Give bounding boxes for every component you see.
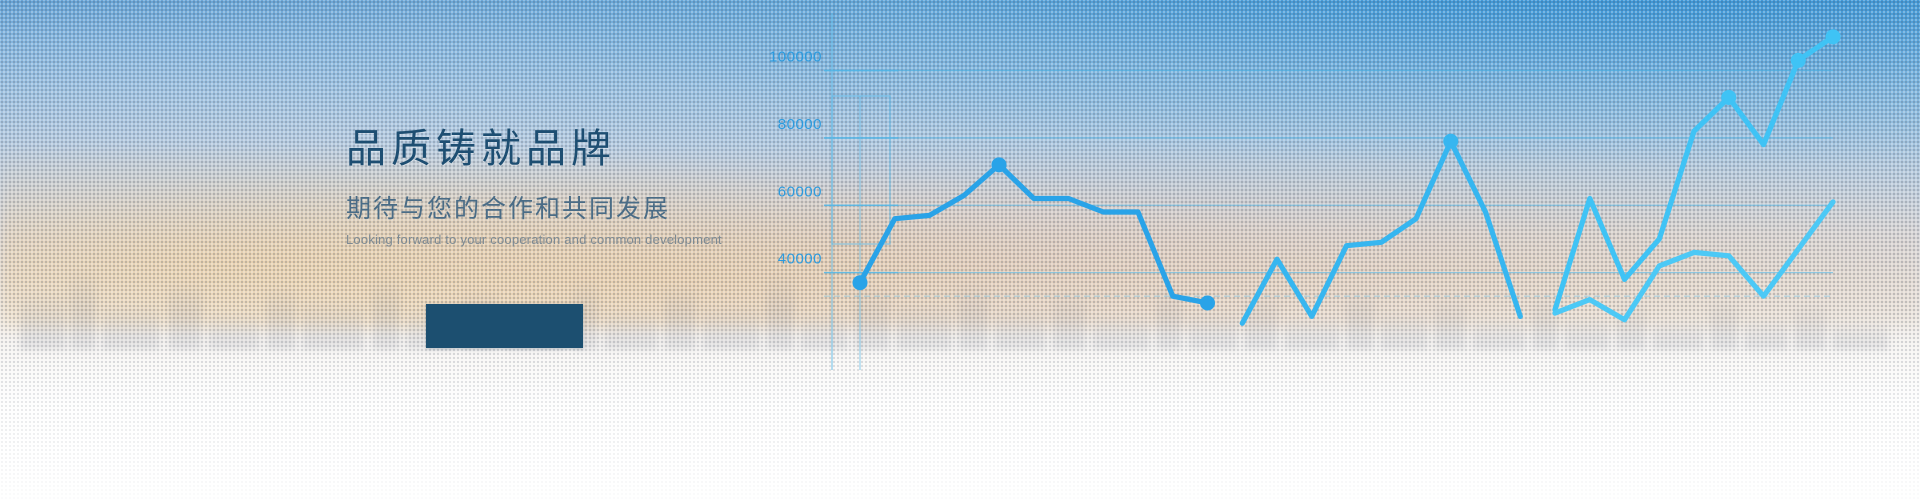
banner-english-tagline: Looking forward to your cooperation and … [346,232,776,248]
chart-y-tick-labels: 400006000080000100000 [769,49,822,268]
learn-more-button[interactable] [426,304,583,348]
chart-point-marker [1200,295,1215,310]
chart-y-axis [832,13,890,370]
chart-series-group [860,37,1833,323]
chart-line-series-a [860,165,1208,303]
banner-headline: 品质铸就品牌 [346,126,776,172]
chart-point-marker [853,275,868,290]
chart-point-marker [1443,134,1458,149]
chart-data-point-markers [853,29,1841,310]
banner-subheadline: 期待与您的合作和共同发展 [346,194,776,224]
chart-point-marker [1826,29,1841,44]
chart-y-tick-label: 100000 [769,49,822,66]
hero-banner: 品质铸就品牌 期待与您的合作和共同发展 Looking forward to y… [0,0,1920,500]
chart-y-tick-label: 40000 [778,251,822,268]
chart-point-marker [1721,90,1736,105]
chart-y-tick-label: 60000 [778,183,822,200]
chart-line-series-c [1555,37,1833,310]
chart-y-tick-label: 80000 [778,116,822,133]
banner-copy-block: 品质铸就品牌 期待与您的合作和共同发展 Looking forward to y… [346,126,776,248]
line-chart: 400006000080000100000 [760,0,1920,500]
chart-point-marker [1791,53,1806,68]
chart-canvas: 400006000080000100000 [760,0,1920,500]
chart-point-marker [992,157,1007,172]
